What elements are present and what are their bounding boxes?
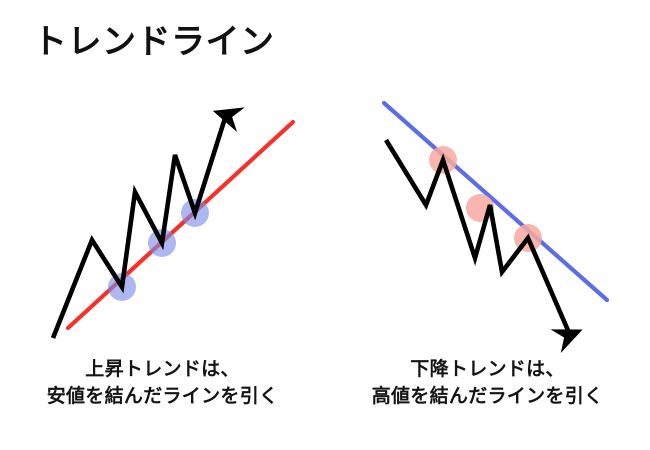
uptrend-caption-line-1: 上昇トレンドは、: [0, 356, 325, 383]
downtrend-caption-line-2: 高値を結んだラインを引く: [325, 383, 650, 410]
uptrend-caption: 上昇トレンドは、 安値を結んだラインを引く: [0, 356, 325, 410]
uptrend-line: [68, 122, 293, 328]
downtrend-caption: 下降トレンドは、 高値を結んだラインを引く: [325, 356, 650, 410]
uptrend-chart: [0, 85, 325, 360]
diagram-canvas: トレンドライン: [0, 0, 650, 450]
downtrend-price-line: [386, 140, 570, 335]
uptrend-price-line: [53, 115, 226, 338]
downtrend-chart: [325, 85, 650, 360]
uptrend-caption-line-2: 安値を結んだラインを引く: [0, 383, 325, 410]
page-title: トレンドライン: [33, 20, 275, 64]
downtrend-panel: [325, 85, 650, 360]
downtrend-line: [384, 103, 607, 300]
uptrend-panel: [0, 85, 325, 360]
downtrend-caption-line-1: 下降トレンドは、: [325, 356, 650, 383]
